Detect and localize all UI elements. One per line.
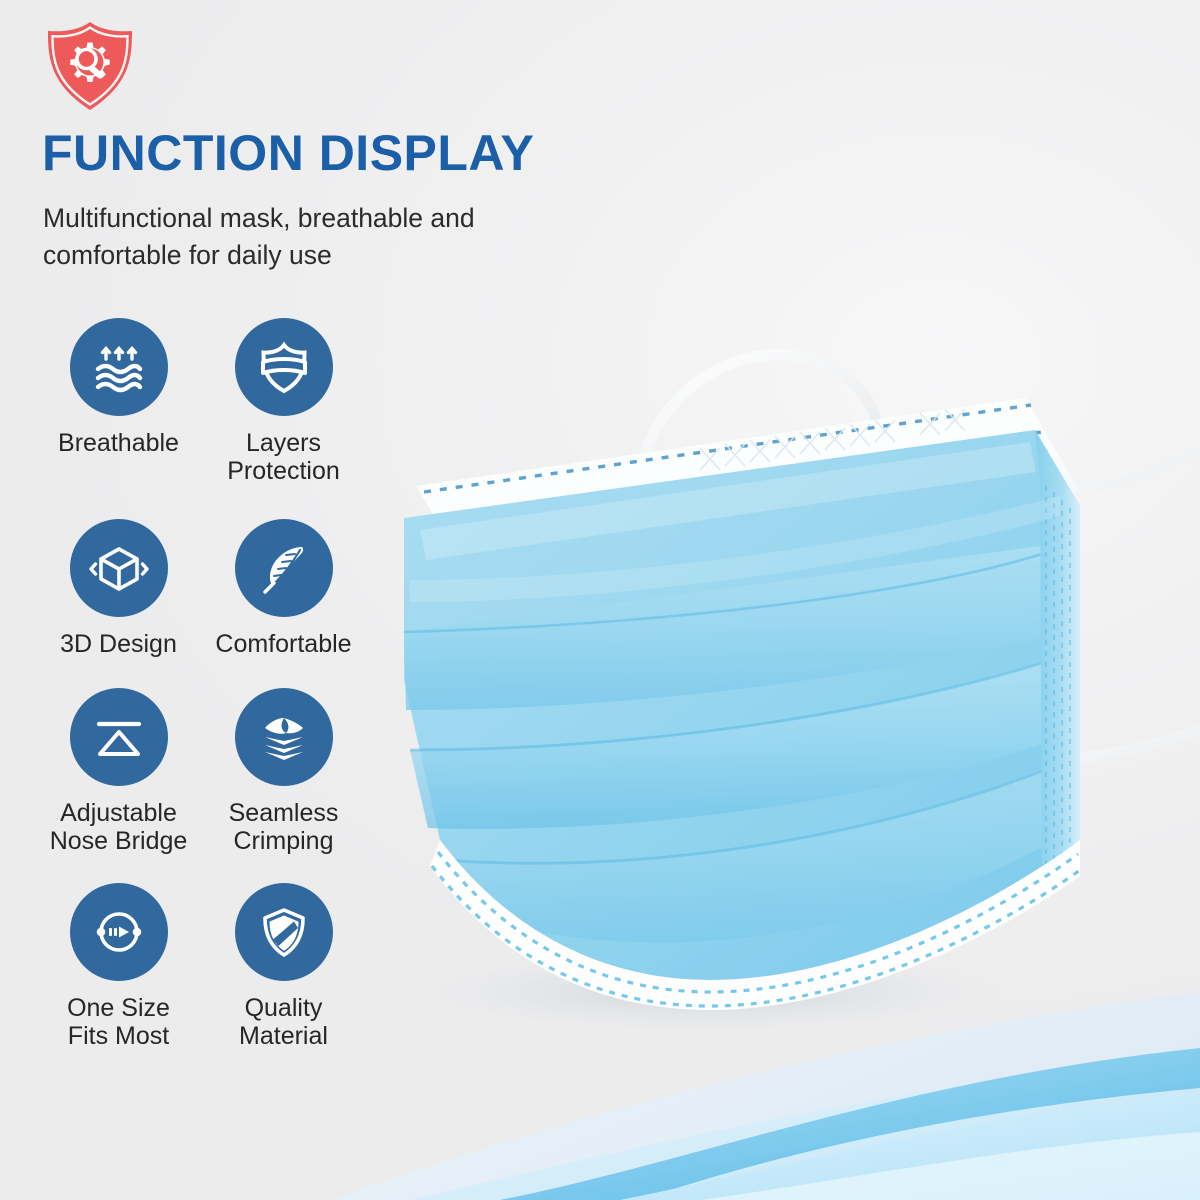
feature-row: 3D Design Comfortable (36, 519, 366, 658)
product-photo-face-mask (380, 280, 1200, 1040)
feature-label: Layers Protection (227, 429, 340, 485)
feature-item-layers-protection[interactable]: Layers Protection (201, 318, 366, 485)
resize-arrows-icon (70, 883, 168, 981)
wave-band-4 (620, 1094, 1200, 1200)
wave-band-3 (500, 1048, 1200, 1200)
feature-label: Adjustable Nose Bridge (50, 799, 188, 855)
wave-band-5 (700, 1132, 1200, 1200)
feature-label: Seamless Crimping (229, 799, 339, 855)
feature-item-quality-material[interactable]: Quality Material (201, 883, 366, 1050)
air-flow-waves-icon (70, 318, 168, 416)
page-title: FUNCTION DISPLAY (42, 128, 534, 178)
brand-logo (34, 18, 146, 114)
feature-label: Breathable (58, 429, 179, 457)
feature-grid: Breathable Layers Protection (36, 318, 366, 1050)
feature-row: One Size Fits Most Quality Material (36, 883, 366, 1050)
feature-label: One Size Fits Most (67, 994, 170, 1050)
ear-loop-right-bottom (1080, 702, 1200, 758)
feature-item-3d-design[interactable]: 3D Design (36, 519, 201, 658)
feature-item-one-size-fits-most[interactable]: One Size Fits Most (36, 883, 201, 1050)
feature-label: 3D Design (60, 630, 177, 658)
shield-layers-icon (235, 318, 333, 416)
cube-3d-icon (70, 519, 168, 617)
nose-bridge-triangle-icon (70, 688, 168, 786)
feature-row: Adjustable Nose Bridge Seamless Crimping (36, 688, 366, 855)
wave-band-2 (410, 1056, 1200, 1200)
shield-check-icon (235, 883, 333, 981)
feature-label: Comfortable (215, 630, 351, 658)
ear-loop-right-top (1070, 420, 1200, 490)
feature-row: Breathable Layers Protection (36, 318, 366, 485)
page-subtitle: Multifunctional mask, breathable and com… (43, 200, 603, 273)
stacked-sheets-icon (235, 688, 333, 786)
feature-item-comfortable[interactable]: Comfortable (201, 519, 366, 658)
infographic-page: FUNCTION DISPLAY Multifunctional mask, b… (0, 0, 1200, 1200)
feather-icon (235, 519, 333, 617)
feature-item-adjustable-nose-bridge[interactable]: Adjustable Nose Bridge (36, 688, 201, 855)
feature-label: Quality Material (239, 994, 328, 1050)
feature-item-seamless-crimping[interactable]: Seamless Crimping (201, 688, 366, 855)
feature-item-breathable[interactable]: Breathable (36, 318, 201, 485)
